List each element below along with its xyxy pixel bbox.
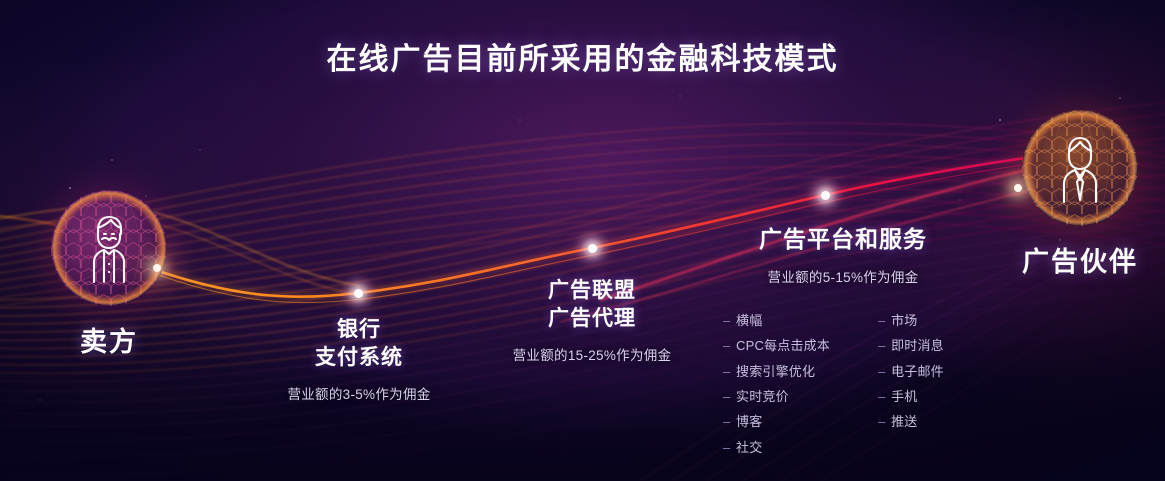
infographic-canvas: 在线广告目前所采用的金融科技模式 [0, 0, 1165, 481]
stage-bank-title-line2: 支付系统 [239, 344, 479, 372]
stage-bank-title-line1: 银行 [239, 316, 479, 344]
partner-label: 广告伙伴 [1022, 240, 1138, 279]
list-item[interactable]: –CPC每点击成本 [723, 333, 830, 358]
dash-icon: – [878, 384, 887, 409]
stage-platform-title-line1: 广告平台和服务 [713, 224, 973, 255]
dash-icon: – [723, 384, 732, 409]
dot-platform-core [821, 191, 830, 200]
feature-label: CPC每点击成本 [736, 338, 830, 353]
list-item[interactable]: –横幅 [723, 308, 830, 333]
feature-column-right: –市场 –即时消息 –电子邮件 –手机 –推送 [878, 308, 944, 460]
feature-label: 即时消息 [891, 338, 944, 353]
feature-label: 推送 [891, 414, 917, 429]
list-item[interactable]: –即时消息 [878, 333, 944, 358]
list-item[interactable]: –博客 [723, 409, 830, 434]
seller-label: 卖方 [51, 320, 167, 359]
seller-sphere-body [51, 190, 167, 306]
stage-network[interactable]: 广告联盟 广告代理 营业额的15-25%作为佣金 [472, 277, 712, 364]
dot-network-core [588, 244, 597, 253]
dash-icon: – [878, 409, 887, 434]
list-item[interactable]: –电子邮件 [878, 359, 944, 384]
dash-icon: – [878, 359, 887, 384]
list-item[interactable]: –搜索引擎优化 [723, 359, 830, 384]
node-partner[interactable]: 广告伙伴 [1022, 110, 1138, 279]
dash-icon: – [723, 435, 732, 460]
stage-platform-commission: 营业额的5-15%作为佣金 [713, 266, 973, 286]
feature-label: 市场 [891, 313, 917, 328]
partner-connection-spark [1014, 184, 1022, 192]
list-item[interactable]: –社交 [723, 435, 830, 460]
feature-label: 横幅 [736, 313, 762, 328]
stage-network-title-line2: 广告代理 [472, 305, 712, 333]
seller-sphere [51, 190, 167, 306]
list-item[interactable]: –手机 [878, 384, 944, 409]
page-title: 在线广告目前所采用的金融科技模式 [0, 34, 1165, 78]
feature-label: 实时竞价 [736, 389, 789, 404]
dash-icon: – [723, 409, 732, 434]
feature-label: 博客 [736, 414, 762, 429]
dash-icon: – [723, 333, 732, 358]
dash-icon: – [723, 308, 732, 333]
feature-label: 搜索引擎优化 [736, 364, 815, 379]
dash-icon: – [723, 359, 732, 384]
platform-feature-list: –横幅 –CPC每点击成本 –搜索引擎优化 –实时竞价 –博客 –社交 –市场 … [723, 308, 944, 460]
partner-sphere [1022, 110, 1138, 226]
stage-platform[interactable]: 广告平台和服务 营业额的5-15%作为佣金 [713, 224, 973, 286]
node-seller[interactable]: 卖方 [51, 190, 167, 359]
list-item[interactable]: –实时竞价 [723, 384, 830, 409]
stage-bank[interactable]: 银行 支付系统 营业额的3-5%作为佣金 [239, 316, 479, 403]
feature-column-left: –横幅 –CPC每点击成本 –搜索引擎优化 –实时竞价 –博客 –社交 [723, 308, 830, 460]
feature-label: 电子邮件 [891, 364, 944, 379]
stage-network-commission: 营业额的15-25%作为佣金 [472, 344, 712, 364]
seller-connection-spark [153, 264, 161, 272]
dash-icon: – [878, 333, 887, 358]
dot-bank-core [354, 289, 363, 298]
dash-icon: – [878, 308, 887, 333]
stage-bank-commission: 营业额的3-5%作为佣金 [239, 383, 479, 403]
stage-network-title-line1: 广告联盟 [472, 277, 712, 305]
list-item[interactable]: –推送 [878, 409, 944, 434]
feature-label: 社交 [736, 440, 762, 455]
partner-sphere-body [1022, 110, 1138, 226]
list-item[interactable]: –市场 [878, 308, 944, 333]
feature-label: 手机 [891, 389, 917, 404]
